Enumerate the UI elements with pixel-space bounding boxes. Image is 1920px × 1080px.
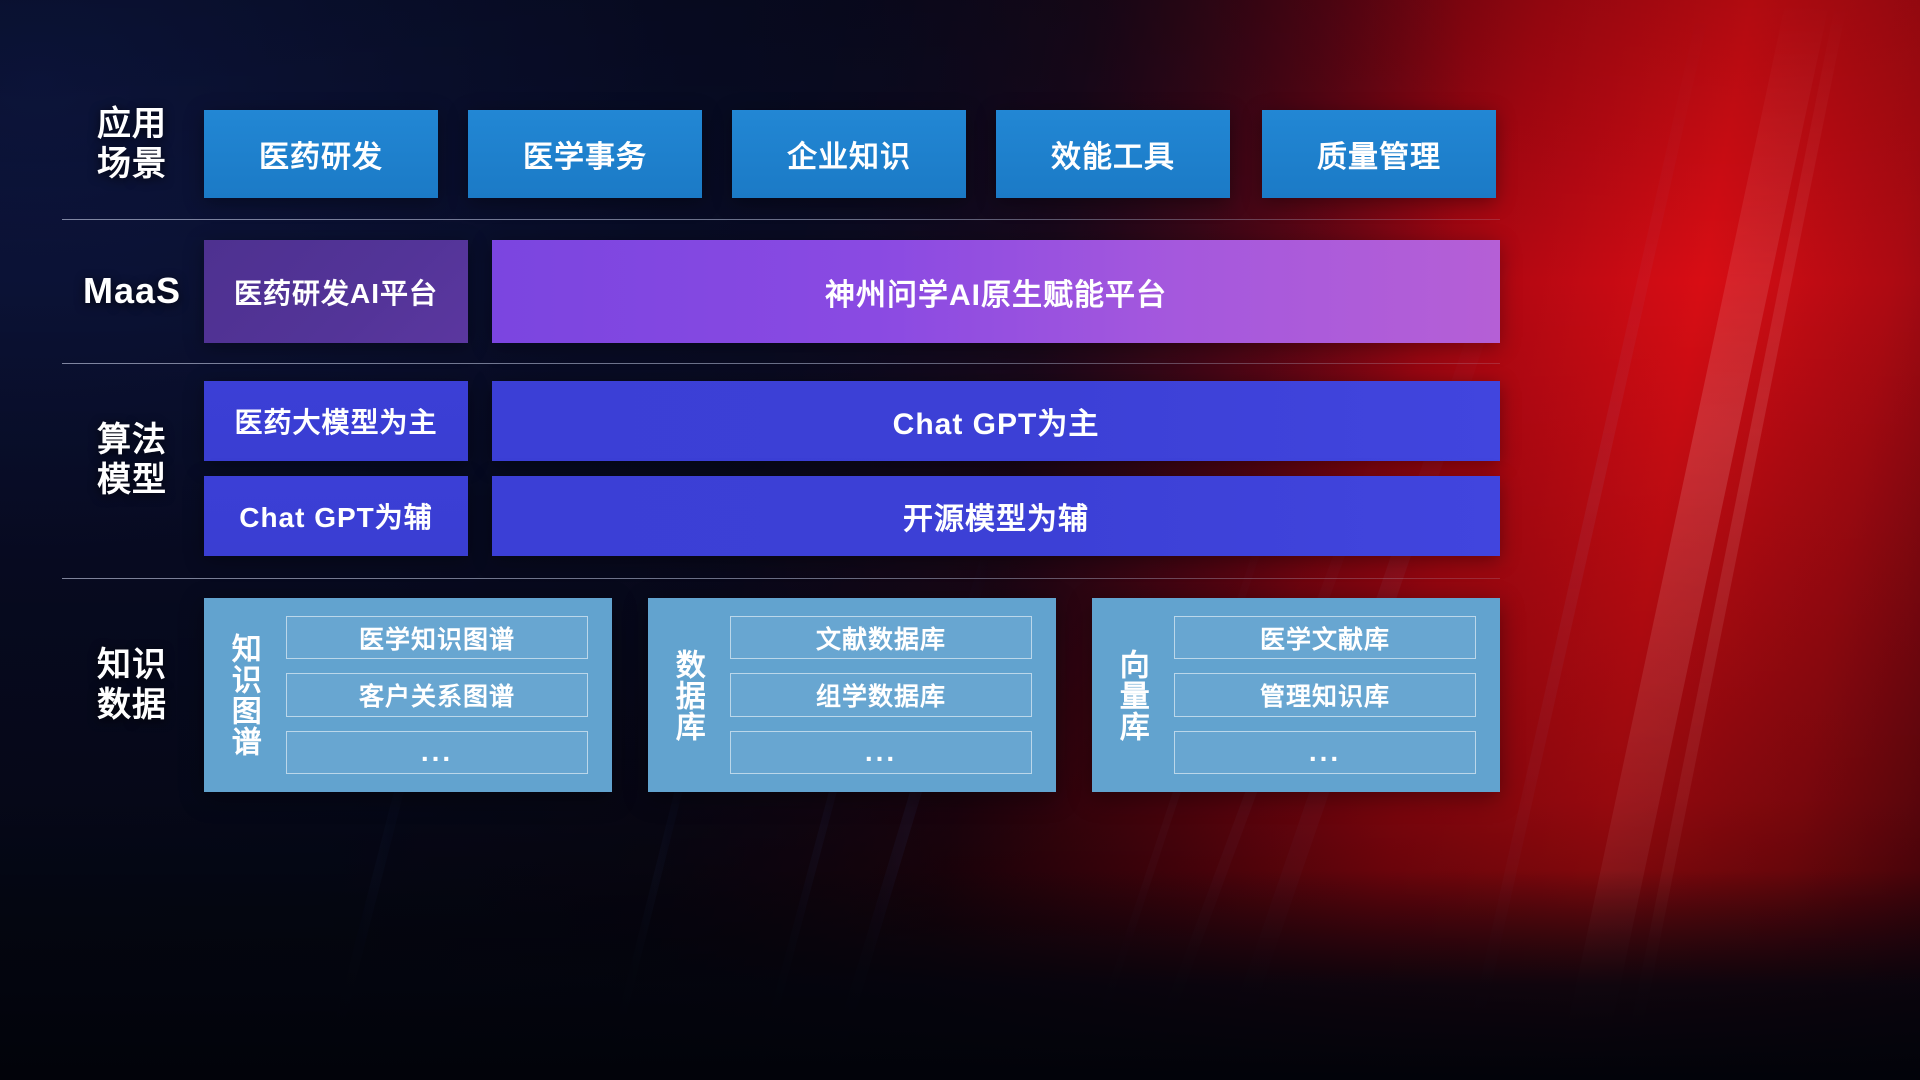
knowledge-item[interactable]: 医学知识图谱: [286, 616, 588, 659]
knowledge-item[interactable]: 组学数据库: [730, 673, 1032, 716]
row-divider: [62, 363, 1500, 364]
app-scenario-label: 效能工具: [1051, 132, 1175, 176]
app-scenario-box[interactable]: 质量管理: [1262, 110, 1496, 198]
knowledge-group-title: 数据库: [648, 598, 726, 792]
app-scenario-box[interactable]: 医药研发: [204, 110, 438, 198]
row-label-maas: MaaS: [62, 270, 202, 312]
algorithm-secondary-left-box[interactable]: Chat GPT为辅: [204, 476, 468, 556]
app-scenario-label: 医药研发: [259, 132, 383, 176]
app-scenario-box[interactable]: 效能工具: [996, 110, 1230, 198]
knowledge-group[interactable]: 数据库 文献数据库 组学数据库 ...: [648, 598, 1056, 792]
maas-enablement-platform-box[interactable]: 神州问学AI原生赋能平台: [492, 240, 1500, 343]
algorithm-secondary-right-label: 开源模型为辅: [903, 494, 1089, 538]
app-scenario-label: 医学事务: [523, 132, 647, 176]
knowledge-group[interactable]: 知识图谱 医学知识图谱 客户关系图谱 ...: [204, 598, 612, 792]
knowledge-item-list: 医学文献库 管理知识库 ...: [1170, 598, 1500, 792]
app-scenario-label: 企业知识: [787, 132, 911, 176]
maas-platform-label: 医药研发AI平台: [234, 272, 438, 312]
maas-platform-box[interactable]: 医药研发AI平台: [204, 240, 468, 343]
app-scenario-box[interactable]: 医学事务: [468, 110, 702, 198]
architecture-diagram: 应用 场景 医药研发 医学事务 企业知识 效能工具 质量管理 MaaS 医药研发…: [0, 0, 1920, 1080]
knowledge-item[interactable]: 文献数据库: [730, 616, 1032, 659]
algorithm-secondary-right-box[interactable]: 开源模型为辅: [492, 476, 1500, 556]
knowledge-item[interactable]: 客户关系图谱: [286, 673, 588, 716]
algorithm-primary-left-label: 医药大模型为主: [234, 401, 437, 441]
knowledge-group-title: 知识图谱: [204, 598, 282, 792]
row-label-algorithm: 算法 模型: [62, 420, 202, 500]
knowledge-item-more[interactable]: ...: [1174, 731, 1476, 774]
knowledge-group[interactable]: 向量库 医学文献库 管理知识库 ...: [1092, 598, 1500, 792]
row-label-knowledge: 知识 数据: [62, 645, 202, 725]
knowledge-group-title: 向量库: [1092, 598, 1170, 792]
algorithm-primary-right-label: Chat GPT为主: [893, 399, 1100, 443]
knowledge-item-list: 文献数据库 组学数据库 ...: [726, 598, 1056, 792]
knowledge-item[interactable]: 医学文献库: [1174, 616, 1476, 659]
maas-enablement-platform-label: 神州问学AI原生赋能平台: [825, 270, 1167, 314]
app-scenario-box[interactable]: 企业知识: [732, 110, 966, 198]
knowledge-item-list: 医学知识图谱 客户关系图谱 ...: [282, 598, 612, 792]
algorithm-primary-left-box[interactable]: 医药大模型为主: [204, 381, 468, 461]
row-label-application: 应用 场景: [62, 104, 202, 184]
slide-canvas: 应用 场景 医药研发 医学事务 企业知识 效能工具 质量管理 MaaS 医药研发…: [0, 0, 1920, 1080]
algorithm-secondary-left-label: Chat GPT为辅: [239, 496, 433, 536]
knowledge-item[interactable]: 管理知识库: [1174, 673, 1476, 716]
app-scenario-label: 质量管理: [1317, 132, 1441, 176]
row-divider: [62, 578, 1500, 579]
knowledge-item-more[interactable]: ...: [286, 731, 588, 774]
knowledge-item-more[interactable]: ...: [730, 731, 1032, 774]
algorithm-primary-right-box[interactable]: Chat GPT为主: [492, 381, 1500, 461]
row-divider: [62, 219, 1500, 220]
